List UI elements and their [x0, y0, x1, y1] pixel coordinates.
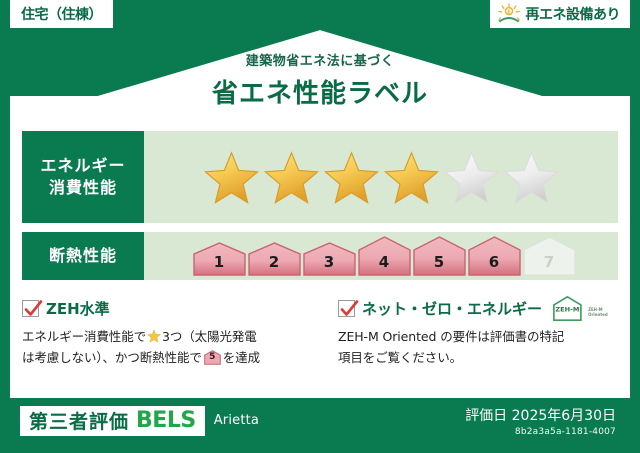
claim-nze-title: ネット・ゼロ・エネルギー: [362, 298, 542, 319]
insulation-badge-number: 5: [204, 350, 221, 365]
renewable-energy-label: 再エネ設備あり: [526, 4, 621, 24]
claim-net-zero-energy: ネット・ゼロ・エネルギー ZEH-M ZEH-M Oriented ZEH-M …: [320, 296, 618, 396]
insulation-badge-inline: 5: [204, 350, 221, 365]
claim-nze-body: ZEH-M Oriented の要件は評価書の特記 項目をご覧ください。: [338, 327, 618, 368]
claim-zeh-body-part4: を達成: [223, 350, 260, 365]
insulation-level-5: 5: [413, 236, 466, 276]
insulation-level-2-number: 2: [248, 253, 301, 271]
insulation-level-4: 4: [358, 236, 411, 276]
footer-bar: 第三者評価 BELS Arietta 評価日 2025年6月30日 8b2a3a…: [10, 398, 630, 443]
claim-zeh-title: ZEH水準: [46, 298, 110, 319]
bels-logo-text: BELS: [136, 408, 196, 433]
star-icon-inline: [147, 329, 161, 343]
frame-bottom-border: [0, 443, 640, 453]
insulation-level-1-number: 1: [193, 253, 246, 271]
energy-label-line1: エネルギー: [40, 155, 125, 177]
label-title-block: 建築物省エネ法に基づく 省エネ性能ラベル: [0, 50, 640, 110]
evaluation-date-value: 2025年6月30日: [512, 408, 616, 424]
svg-text:ZEH-M: ZEH-M: [555, 306, 579, 314]
star-icon-filled-1: [203, 149, 260, 206]
svg-text:E: E: [507, 9, 511, 15]
energy-performance-label: 住宅（住棟） E 再エネ設備あり: [0, 0, 640, 453]
evaluation-date: 評価日 2025年6月30日: [465, 405, 616, 425]
insulation-level-3: 3: [303, 242, 356, 276]
star-icon-filled-2: [263, 149, 320, 206]
insulation-level-7: 7: [523, 236, 576, 276]
svg-text:Oriented: Oriented: [588, 312, 608, 317]
building-type-label: 住宅（住棟）: [21, 4, 102, 24]
insulation-label-line1: 断熱性能: [49, 245, 117, 267]
claim-nze-body-part1: ZEH-M Oriented の要件は評価書の特記: [338, 329, 564, 344]
evaluation-date-label: 評価日: [465, 408, 507, 424]
insulation-level-3-number: 3: [303, 253, 356, 271]
claim-nze-header: ネット・ゼロ・エネルギー ZEH-M ZEH-M Oriented: [338, 296, 618, 320]
insulation-level-2: 2: [248, 242, 301, 276]
claim-zeh-body-part2: 3つ（太陽光発電: [162, 329, 257, 344]
checkbox-checked-icon: [22, 300, 39, 317]
renewable-energy-tag: E 再エネ設備あり: [490, 0, 631, 28]
third-party-evaluation-label: 第三者評価: [29, 407, 129, 434]
claim-zeh-body-part1: エネルギー消費性能で: [22, 329, 146, 344]
insulation-level-6-number: 6: [468, 253, 521, 271]
insulation-level-5-number: 5: [413, 253, 466, 271]
energy-label-line2: 消費性能: [49, 177, 117, 199]
star-icon-empty-6: [503, 149, 560, 206]
star-icon-filled-4: [383, 149, 440, 206]
claims-section: ZEH水準 エネルギー消費性能で3つ（太陽光発電 は考慮しない）、かつ断熱性能で…: [22, 296, 618, 396]
insulation-level-scale: 1 2 3 4: [144, 232, 618, 280]
checkbox-checked-icon: [338, 300, 355, 317]
claim-zeh-header: ZEH水準: [22, 296, 320, 320]
claim-zeh-standard: ZEH水準 エネルギー消費性能で3つ（太陽光発電 は考慮しない）、かつ断熱性能で…: [22, 296, 320, 396]
claim-zeh-body-part3: は考慮しない）、かつ断熱性能で: [22, 350, 202, 365]
bels-certification-chip: 第三者評価 BELS: [20, 406, 205, 436]
insulation-level-1: 1: [193, 242, 246, 276]
insulation-performance-label-box: 断熱性能: [22, 232, 144, 280]
insulation-performance-row: 断熱性能 1 2: [22, 232, 618, 280]
claim-nze-body-part2: 項目をご覧ください。: [338, 350, 462, 365]
insulation-level-4-number: 4: [358, 253, 411, 271]
zeh-m-oriented-logo-icon: ZEH-M ZEH-M Oriented: [551, 295, 597, 321]
label-subtitle: 建築物省エネ法に基づく: [0, 50, 640, 69]
label-title: 省エネ性能ラベル: [0, 73, 640, 110]
footer-evaluation-info: 評価日 2025年6月30日 8b2a3a5a-1181-4007: [465, 405, 616, 437]
energy-star-rating: [144, 131, 618, 223]
insulation-level-7-number: 7: [523, 253, 576, 271]
claim-zeh-body: エネルギー消費性能で3つ（太陽光発電 は考慮しない）、かつ断熱性能で5を達成: [22, 327, 320, 368]
building-type-tag: 住宅（住棟）: [10, 0, 113, 28]
star-icon-filled-3: [323, 149, 380, 206]
energy-performance-label-box: エネルギー 消費性能: [22, 131, 144, 223]
evaluation-id: 8b2a3a5a-1181-4007: [465, 427, 616, 437]
energy-performance-row: エネルギー 消費性能: [22, 131, 618, 223]
sun-solar-icon: E: [496, 3, 522, 25]
insulation-level-6: 6: [468, 236, 521, 276]
building-name: Arietta: [214, 413, 259, 428]
star-icon-empty-5: [443, 149, 500, 206]
